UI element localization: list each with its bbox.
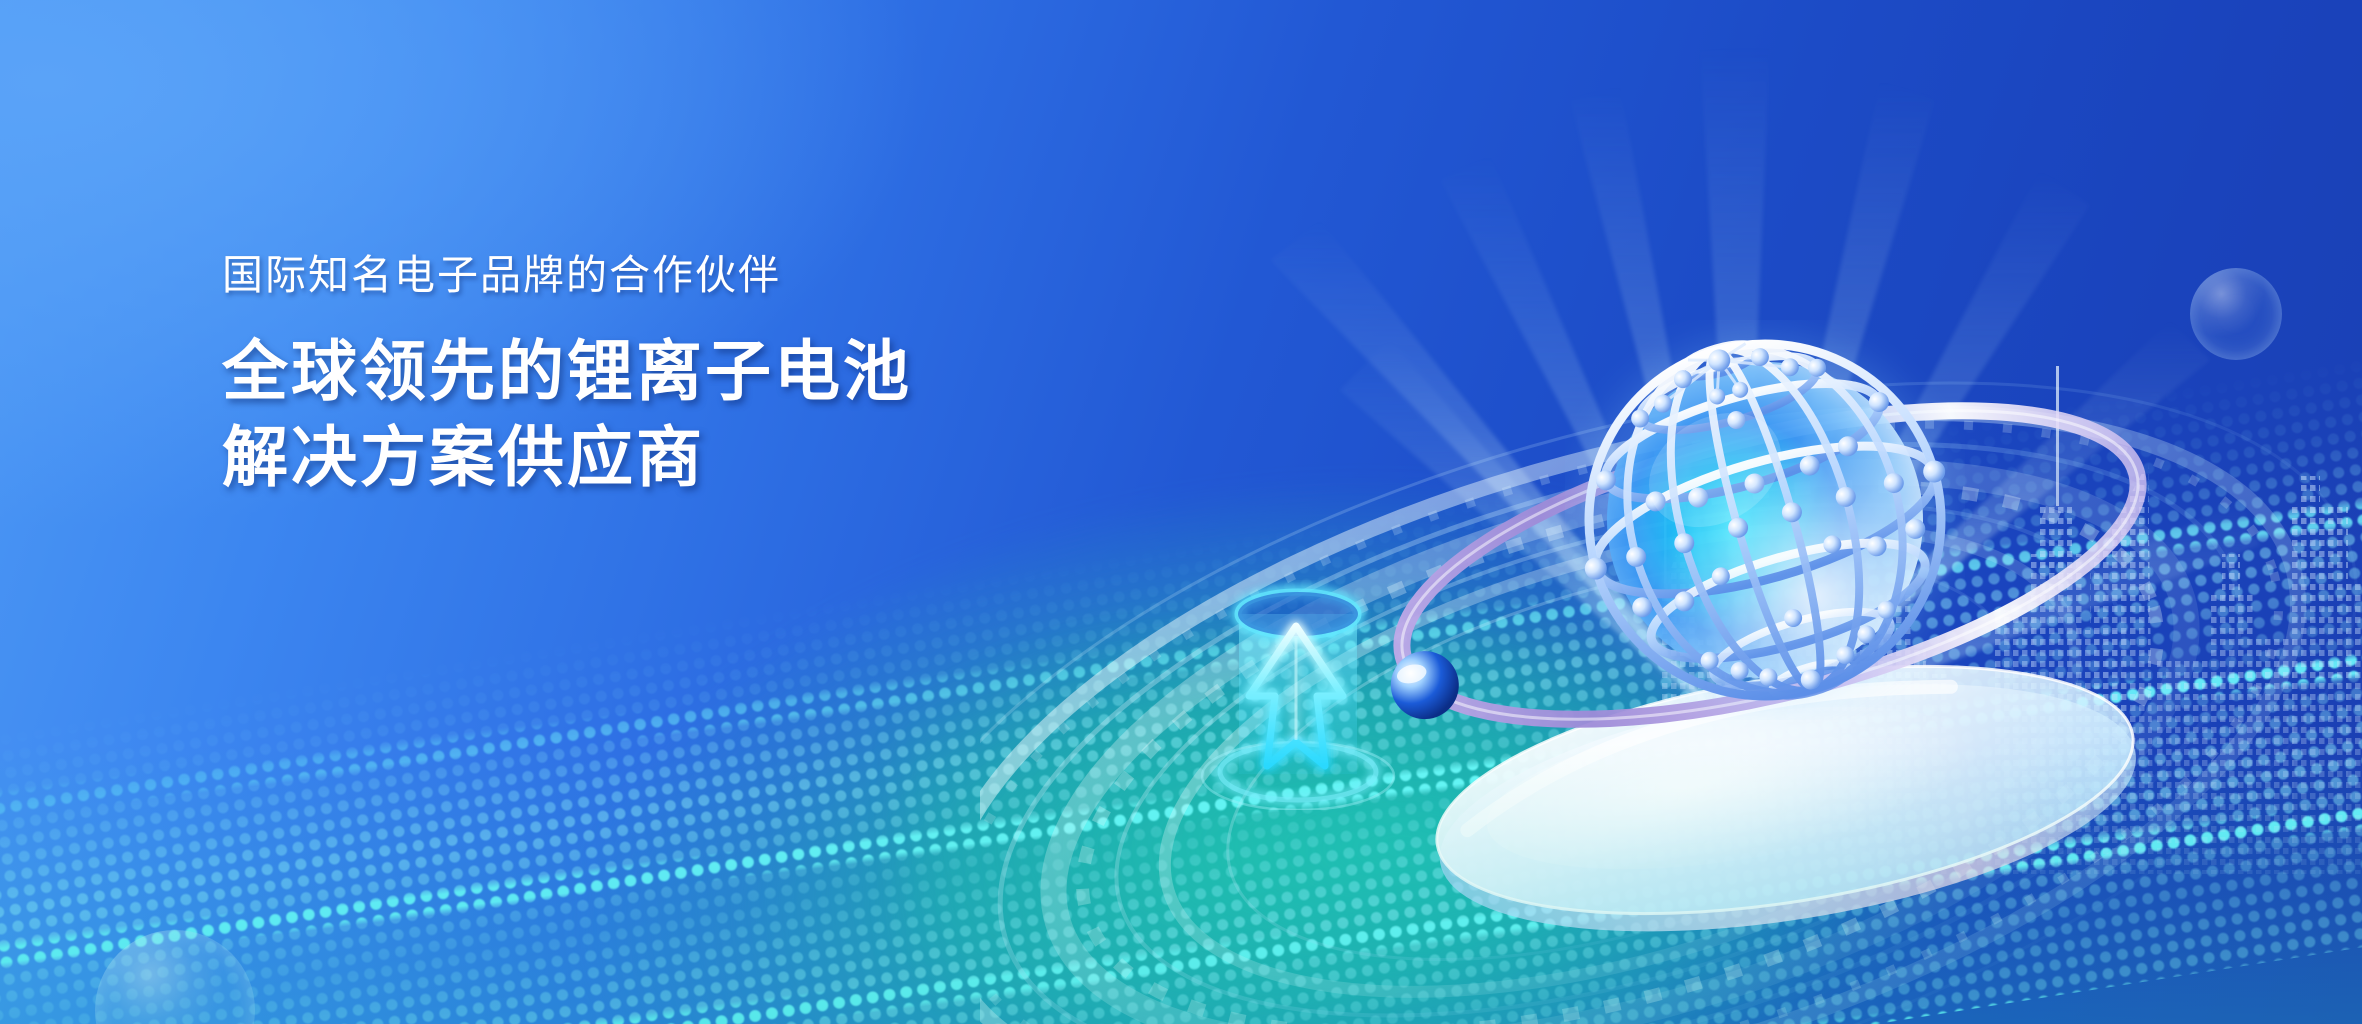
headline-line-1: 全球领先的锂离子电池 — [222, 329, 1122, 415]
halftone-dot-grid — [0, 0, 2362, 1024]
bubble-icon — [2190, 268, 2282, 360]
banner-copy: 国际知名电子品牌的合作伙伴 全球领先的锂离子电池 解决方案供应商 — [222, 250, 1122, 501]
banner-kicker: 国际知名电子品牌的合作伙伴 — [222, 250, 1122, 301]
headline-line-2: 解决方案供应商 — [222, 415, 1122, 501]
orbit-bead-icon — [1384, 644, 1466, 726]
orbit-ring-icon — [1370, 400, 2170, 730]
floor-glow — [0, 744, 2362, 1024]
hero-banner: 国际知名电子品牌的合作伙伴 全球领先的锂离子电池 解决方案供应商 — [0, 0, 2362, 1024]
concentric-rings-icon — [980, 290, 2362, 1024]
teal-background-wash-secondary — [900, 640, 2150, 1024]
light-rays-icon — [1180, 40, 2280, 800]
banner-headline: 全球领先的锂离子电池 解决方案供应商 — [222, 329, 1122, 501]
upward-arrow-icon — [1175, 580, 1435, 810]
glossy-platform-icon — [1405, 640, 2165, 940]
wireframe-globe-icon — [1565, 320, 1965, 720]
bubble-icon — [95, 930, 255, 1024]
city-skyline-icon — [1662, 254, 2362, 874]
halftone-dot-wave-icon — [0, 0, 2362, 1024]
